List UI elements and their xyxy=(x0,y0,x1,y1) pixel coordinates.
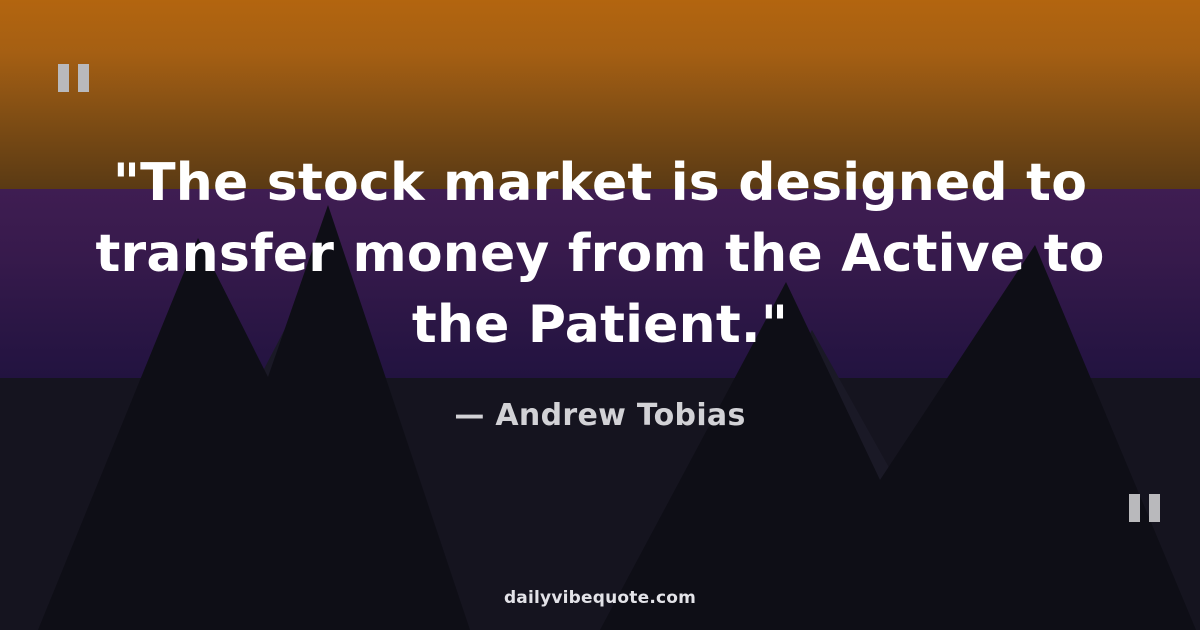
quote-card: "The stock market is designed to transfe… xyxy=(0,0,1200,630)
author-name: — Andrew Tobias xyxy=(60,398,1140,433)
quote-text: "The stock market is designed to transfe… xyxy=(60,148,1140,361)
site-watermark: dailyvibequote.com xyxy=(0,588,1200,608)
quote-content: "The stock market is designed to transfe… xyxy=(0,0,1200,630)
